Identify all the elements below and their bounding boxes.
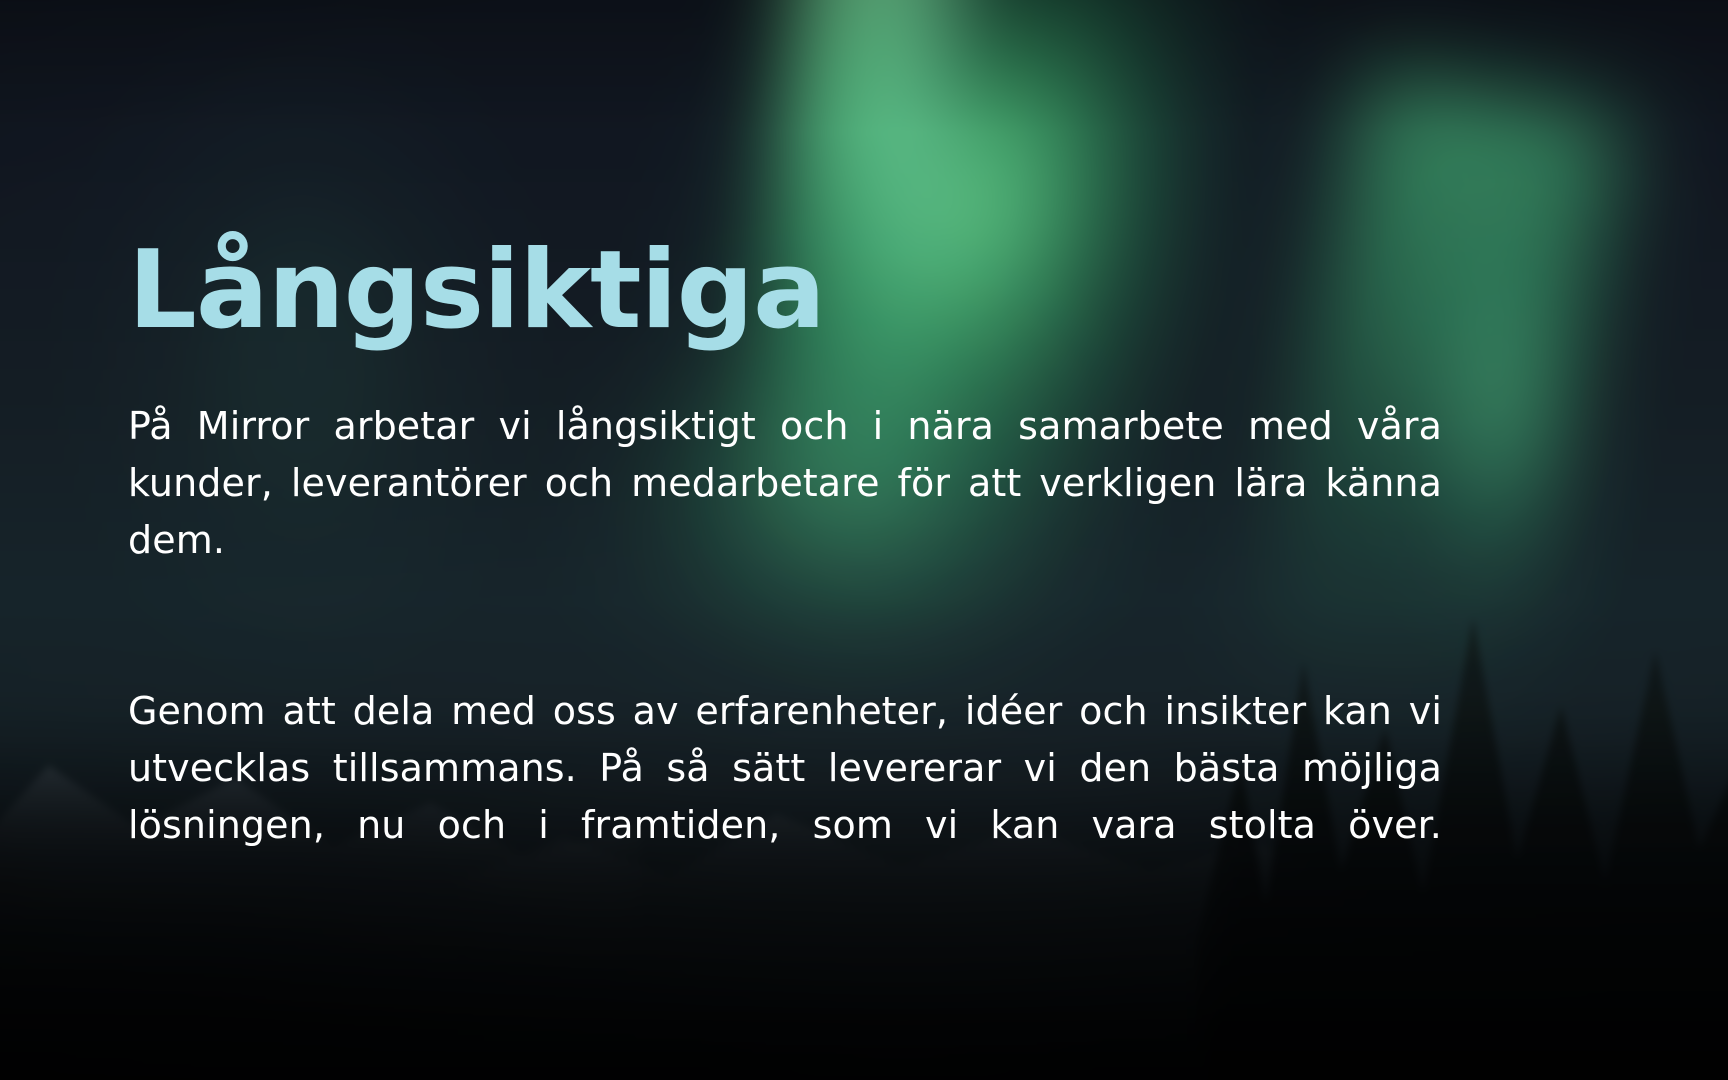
paragraph-1: På Mirror arbetar vi långsiktigt och i n… — [128, 398, 1442, 626]
page-title: Långsiktiga — [128, 236, 1442, 346]
slide-content: Långsiktiga På Mirror arbetar vi långsik… — [128, 236, 1442, 911]
presentation-slide: Långsiktiga På Mirror arbetar vi långsik… — [0, 0, 1728, 1080]
body-copy: På Mirror arbetar vi långsiktigt och i n… — [128, 398, 1442, 911]
paragraph-2: Genom att dela med oss av erfarenheter, … — [128, 683, 1442, 911]
